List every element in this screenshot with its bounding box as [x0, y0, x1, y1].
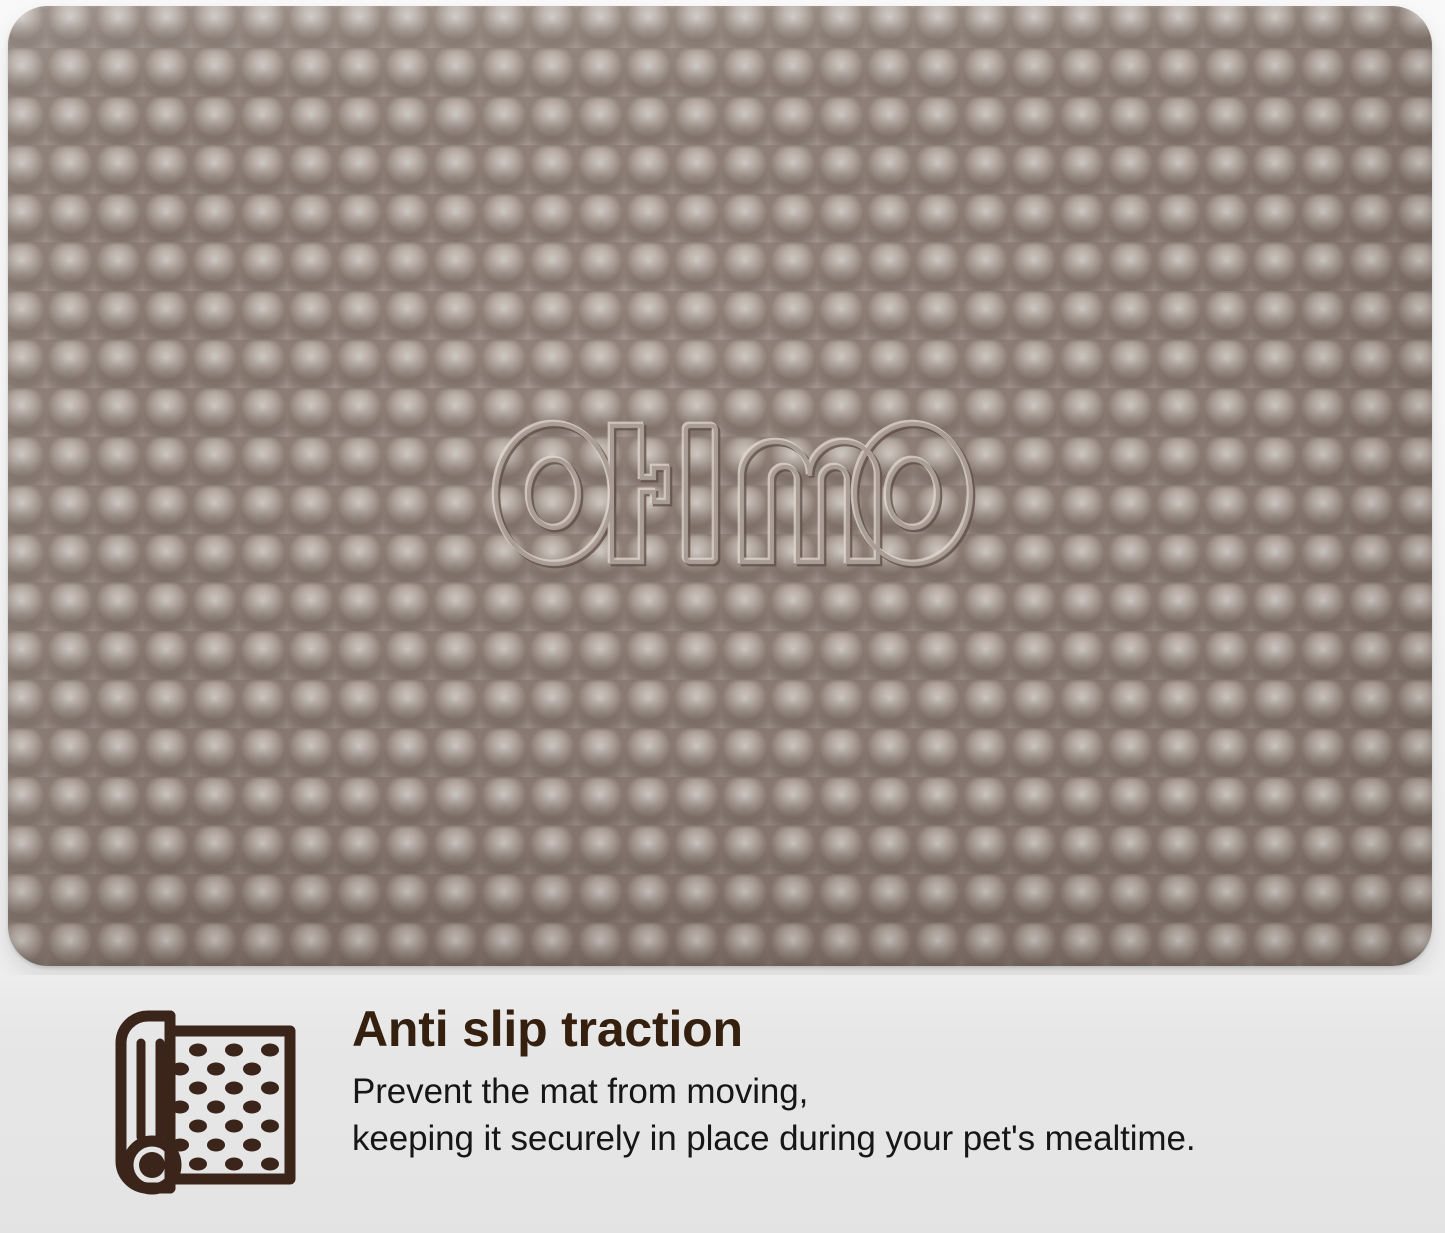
feature-callout-panel: Anti slip traction Prevent the mat from …: [0, 975, 1445, 1233]
rolled-mat-with-dots-icon: [112, 1007, 312, 1197]
feature-title: Anti slip traction: [352, 1003, 1412, 1055]
product-photo-area: [0, 0, 1445, 975]
feature-text-block: Anti slip traction Prevent the mat from …: [352, 1003, 1412, 1162]
silicone-pet-mat: [8, 6, 1432, 966]
anti-slip-dot-grid-texture: [8, 6, 1432, 966]
product-feature-image: Anti slip traction Prevent the mat from …: [0, 0, 1445, 1233]
mat-surface-sheen: [8, 6, 1432, 966]
ohmo-brand-logo: [490, 414, 976, 574]
anti-slip-dot-grid-shadow: [8, 6, 1432, 966]
feature-description: Prevent the mat from moving, keeping it …: [352, 1069, 1412, 1162]
